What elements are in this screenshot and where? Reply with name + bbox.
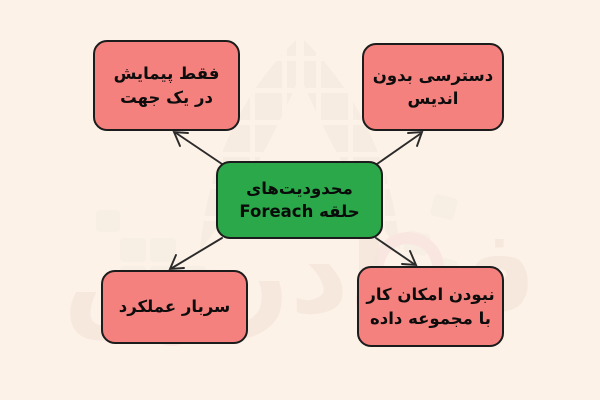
node-line: فقط پیمایش xyxy=(114,62,220,85)
arrow-center-to-top-right xyxy=(377,132,422,164)
node-no-index-access[interactable]: دسترسی بدون اندیس xyxy=(362,43,504,131)
node-line: نبودن امکان کار xyxy=(366,283,494,306)
node-line: اندیس xyxy=(408,87,459,110)
arrow-center-to-bottom-left xyxy=(170,238,222,269)
node-foreach-loop-limitations[interactable]: محدودیت‌های حلقه Foreach xyxy=(216,161,383,239)
node-line: دسترسی بدون xyxy=(373,64,493,87)
arrow-center-to-top-left xyxy=(174,132,222,164)
node-line: محدودیت‌های xyxy=(246,177,353,200)
arrow-center-to-bottom-right xyxy=(376,238,416,265)
node-cannot-modify-collection[interactable]: نبودن امکان کار با مجموعه داده xyxy=(357,266,504,347)
node-line: با مجموعه داده xyxy=(370,307,491,330)
diagram-canvas: فرادرس xyxy=(0,0,600,400)
node-performance-overhead[interactable]: سربار عملکرد xyxy=(101,270,248,344)
node-only-forward-traversal[interactable]: فقط پیمایش در یک جهت xyxy=(93,40,240,131)
node-line: سربار عملکرد xyxy=(119,295,231,318)
node-line: حلقه Foreach xyxy=(239,200,359,223)
node-line: در یک جهت xyxy=(120,86,213,109)
